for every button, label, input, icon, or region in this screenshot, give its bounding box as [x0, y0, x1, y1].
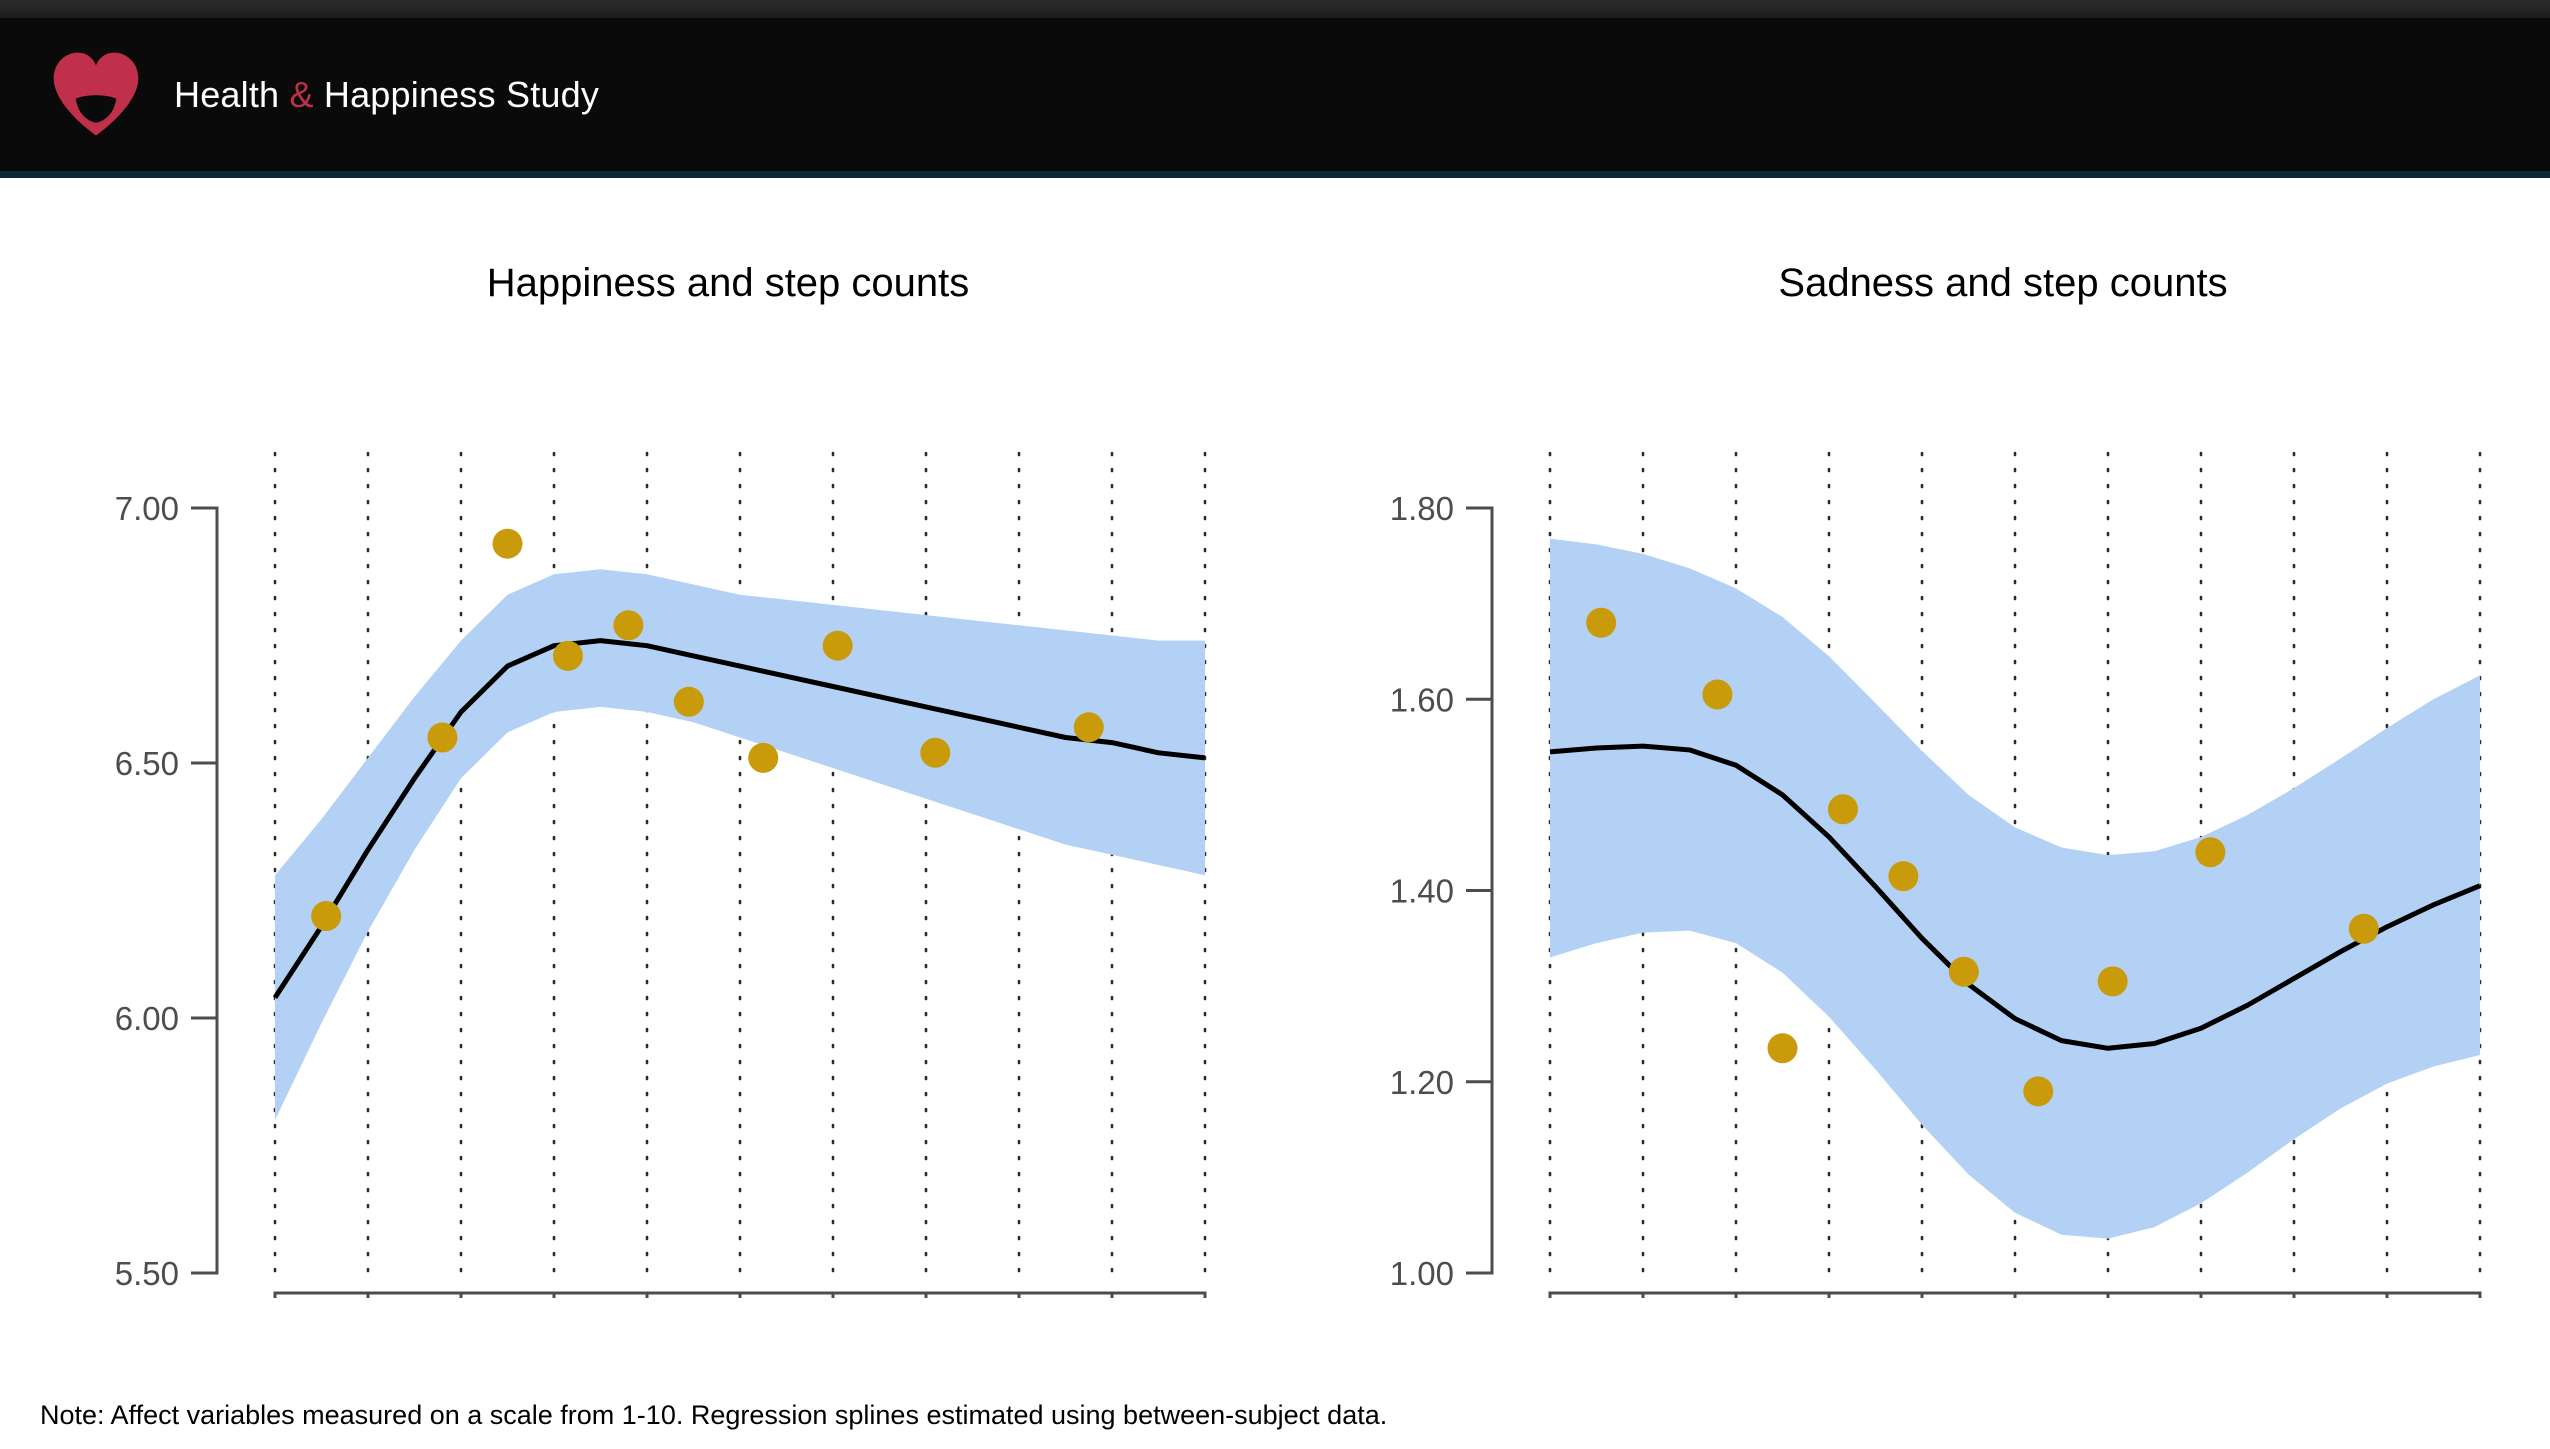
scatter-point — [2349, 914, 2379, 944]
scatter-point — [1702, 679, 1732, 709]
y-tick-label: 7.00 — [115, 490, 179, 527]
scatter-point — [613, 610, 643, 640]
scatter-point — [427, 723, 457, 753]
scatter-point — [674, 687, 704, 717]
header-content: Health & Happiness Study — [0, 18, 2550, 171]
scatter-point — [1949, 957, 1979, 987]
scatter-point — [920, 738, 950, 768]
scatter-point — [1768, 1033, 1798, 1063]
scatter-point — [2098, 966, 2128, 996]
y-tick-label: 5.50 — [115, 1255, 179, 1292]
charts-row: Happiness and step counts5.506.006.507.0… — [0, 178, 2550, 1298]
y-tick-label: 1.80 — [1390, 490, 1454, 527]
happiness-chart-svg: Happiness and step counts5.506.006.507.0… — [0, 178, 1275, 1298]
scatter-point — [1074, 712, 1104, 742]
scatter-point — [2195, 837, 2225, 867]
gridlines — [275, 453, 1205, 1273]
scatter-point — [311, 901, 341, 931]
y-tick-label: 1.60 — [1390, 681, 1454, 718]
brand-title-ampersand: & — [289, 74, 313, 115]
scatter-point — [823, 631, 853, 661]
y-tick-label: 6.50 — [115, 745, 179, 782]
chart-panel-sadness: Sadness and step counts1.001.201.401.601… — [1275, 178, 2550, 1298]
brand-title-part1: Health — [174, 74, 289, 115]
y-axis-spine — [191, 508, 217, 1273]
scatter-point — [1888, 861, 1918, 891]
chart-title: Happiness and step counts — [487, 261, 970, 305]
scatter-point — [2023, 1076, 2053, 1106]
scatter-point — [1828, 794, 1858, 824]
brand-title-part2: Happiness Study — [314, 74, 599, 115]
header-accent-rule — [0, 171, 2550, 178]
y-tick-label: 1.00 — [1390, 1255, 1454, 1292]
y-tick-label: 6.00 — [115, 1000, 179, 1037]
scatter-point — [1586, 608, 1616, 638]
y-tick-label: 1.40 — [1390, 873, 1454, 910]
chart-title: Sadness and step counts — [1778, 261, 2227, 305]
y-tick-label: 1.20 — [1390, 1064, 1454, 1101]
chart-panel-happiness: Happiness and step counts5.506.006.507.0… — [0, 178, 1275, 1298]
page-title: Health & Happiness Study — [174, 74, 599, 116]
app-header: Health & Happiness Study — [0, 0, 2550, 178]
confidence-band — [1550, 539, 2480, 1239]
smiling-heart-icon — [50, 49, 142, 141]
chart-footnote: Note: Affect variables measured on a sca… — [40, 1400, 1387, 1431]
scatter-point — [553, 641, 583, 671]
scatter-point — [748, 743, 778, 773]
header-top-strip — [0, 0, 2550, 18]
scatter-point — [493, 529, 523, 559]
confidence-band — [275, 569, 1205, 1120]
sadness-chart-svg: Sadness and step counts1.001.201.401.601… — [1275, 178, 2550, 1298]
